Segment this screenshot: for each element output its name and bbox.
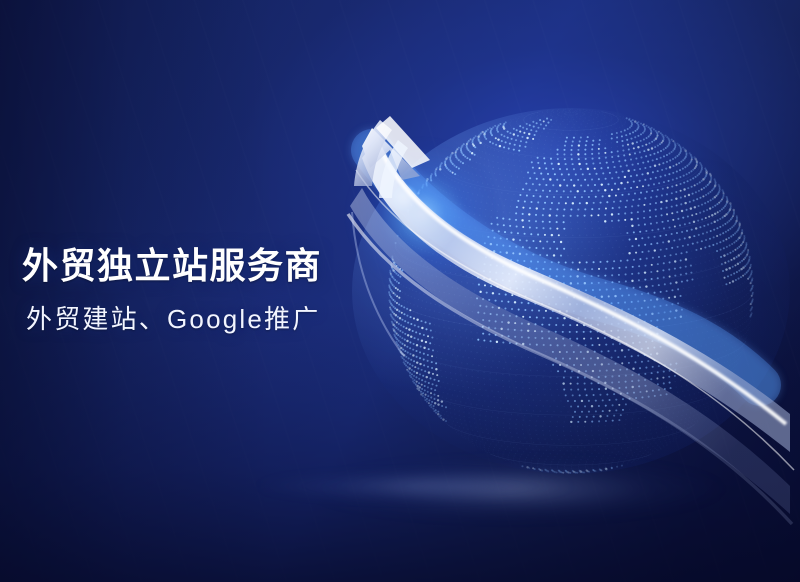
banner-headline: 外贸独立站服务商 xyxy=(22,248,322,284)
globe-dot-matrix xyxy=(352,108,790,474)
hero-banner: 外贸独立站服务商 外贸建站、Google推广 xyxy=(0,0,800,582)
ground-reflection-glow-2 xyxy=(250,472,580,500)
banner-copy: 外贸独立站服务商 外贸建站、Google推广 xyxy=(22,248,322,332)
banner-subline: 外贸建站、Google推广 xyxy=(26,306,322,332)
dotted-world-globe xyxy=(352,108,790,474)
light-burst-glow-core xyxy=(392,185,418,211)
